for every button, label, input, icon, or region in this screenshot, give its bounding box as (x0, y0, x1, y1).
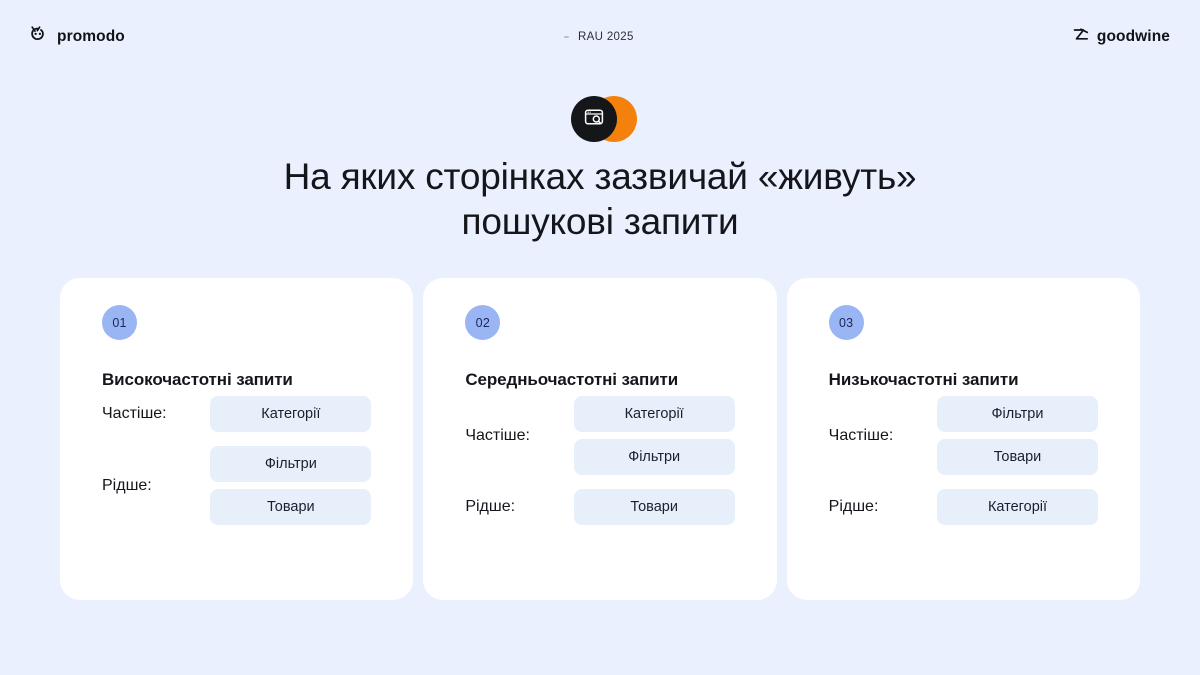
dot-separator-icon (564, 36, 569, 38)
pill-group: Категорії (210, 396, 371, 432)
frequency-row: Частіше: Фільтри Товари (829, 396, 1098, 475)
browser-search-icon (583, 106, 605, 133)
page-type-pill: Товари (210, 489, 371, 525)
frequency-label: Частіше: (102, 405, 167, 423)
query-card: 02 Середньочастотні запити Частіше: Кате… (423, 278, 776, 600)
page-type-pill: Категорії (574, 396, 735, 432)
page-type-pill: Фільтри (210, 446, 371, 482)
page-type-pill: Фільтри (574, 439, 735, 475)
pill-group: Категорії (937, 489, 1098, 525)
page-type-pill: Фільтри (937, 396, 1098, 432)
card-number-badge: 03 (829, 305, 864, 340)
promodo-label: promodo (57, 28, 125, 46)
promodo-brand: promodo (30, 26, 125, 48)
query-card: 01 Високочастотні запити Частіше: Катего… (60, 278, 413, 600)
card-rows: Частіше: Категорії Фільтри Рідше: Товари (465, 396, 734, 525)
frequency-label: Рідше: (829, 498, 879, 516)
cards-row: 01 Високочастотні запити Частіше: Катего… (60, 278, 1140, 600)
goodwine-logo-icon (1073, 27, 1089, 47)
card-title: Низькочастотні запити (829, 370, 1098, 390)
card-rows: Частіше: Категорії Рідше: Фільтри Товари (102, 396, 371, 525)
card-number-badge: 02 (465, 305, 500, 340)
frequency-row: Рідше: Категорії (829, 489, 1098, 525)
page-type-pill: Товари (574, 489, 735, 525)
frequency-label: Частіше: (465, 427, 530, 445)
goodwine-brand: goodwine (1073, 27, 1170, 47)
page-title: На яких сторінках зазвичай «живуть» пошу… (0, 154, 1200, 244)
frequency-row: Частіше: Категорії (102, 396, 371, 432)
promodo-logo-icon (30, 26, 49, 48)
frequency-label: Частіше: (829, 427, 894, 445)
page-type-pill: Товари (937, 439, 1098, 475)
card-rows: Частіше: Фільтри Товари Рідше: Категорії (829, 396, 1098, 525)
slide-header: promodo RAU 2025 goodwine (0, 0, 1200, 74)
frequency-row: Частіше: Категорії Фільтри (465, 396, 734, 475)
pill-group: Фільтри Товари (937, 396, 1098, 475)
title-line-2: пошукові запити (0, 199, 1200, 244)
pill-group: Фільтри Товари (210, 446, 371, 525)
page-type-pill: Категорії (937, 489, 1098, 525)
card-number-badge: 01 (102, 305, 137, 340)
event-label: RAU 2025 (564, 31, 634, 43)
goodwine-label: goodwine (1097, 28, 1170, 46)
card-title: Середньочастотні запити (465, 370, 734, 390)
title-badge (571, 96, 629, 142)
frequency-row: Рідше: Фільтри Товари (102, 446, 371, 525)
pill-group: Товари (574, 489, 735, 525)
card-title: Високочастотні запити (102, 370, 371, 390)
title-line-1: На яких сторінках зазвичай «живуть» (0, 154, 1200, 199)
badge-dark-circle (571, 96, 617, 142)
title-block: На яких сторінках зазвичай «живуть» пошу… (0, 96, 1200, 244)
page-type-pill: Категорії (210, 396, 371, 432)
frequency-label: Рідше: (465, 498, 515, 516)
pill-group: Категорії Фільтри (574, 396, 735, 475)
query-card: 03 Низькочастотні запити Частіше: Фільтр… (787, 278, 1140, 600)
frequency-label: Рідше: (102, 477, 152, 495)
frequency-row: Рідше: Товари (465, 489, 734, 525)
event-name: RAU 2025 (578, 31, 634, 43)
